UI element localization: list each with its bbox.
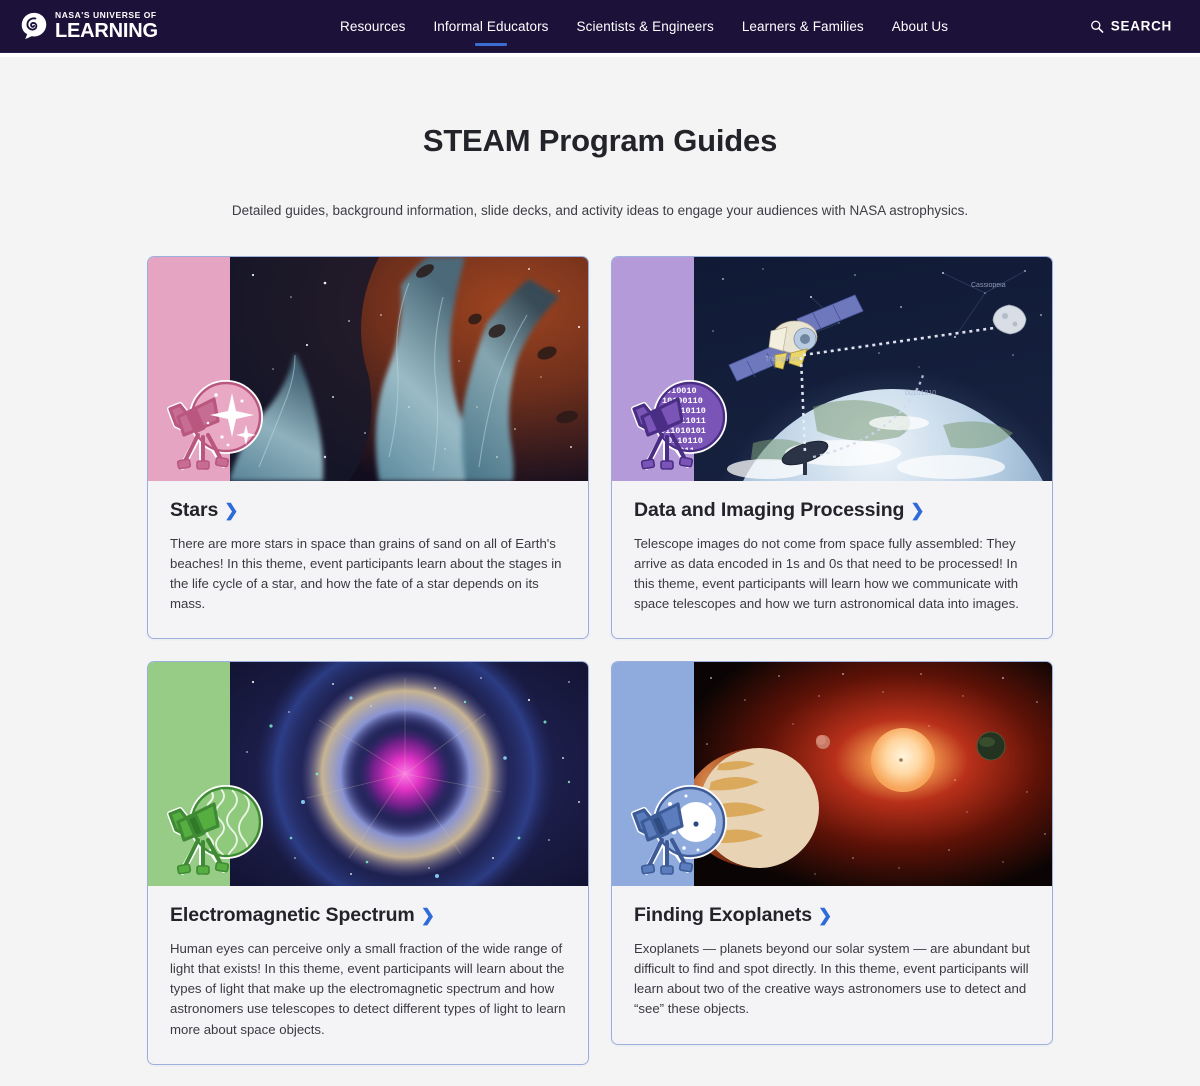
chevron-right-icon: ❯	[910, 501, 924, 521]
card-data-and-imaging-processing[interactable]: Cassiopeia Triangulum 00101010 JPL	[611, 256, 1053, 639]
site-header: NASA'S UNIVERSE OF LEARNING Resources In…	[0, 0, 1200, 53]
card-spectrum-image	[230, 662, 588, 886]
spiral-galaxy-logo-icon	[20, 12, 48, 40]
card-data-title-link[interactable]: Data and Imaging Processing ❯	[634, 499, 1030, 522]
program-guide-card-grid: Stars ❯ There are more stars in space th…	[147, 256, 1053, 1065]
card-data-title: Data and Imaging Processing	[634, 499, 904, 522]
card-exoplanets-title-link[interactable]: Finding Exoplanets ❯	[634, 904, 1030, 927]
card-stars-title: Stars	[170, 499, 218, 522]
svg-text:00101010: 00101010	[905, 390, 936, 397]
svg-text:Triangulum: Triangulum	[765, 356, 800, 363]
card-data-media[interactable]: Cassiopeia Triangulum 00101010 JPL	[612, 257, 1052, 481]
card-electromagnetic-spectrum[interactable]: Electromagnetic Spectrum ❯ Human eyes ca…	[147, 661, 589, 1064]
card-stars-title-link[interactable]: Stars ❯	[170, 499, 566, 522]
card-stars-media[interactable]	[148, 257, 588, 481]
card-stars[interactable]: Stars ❯ There are more stars in space th…	[147, 256, 589, 639]
nav-item-learners-families[interactable]: Learners & Families	[728, 19, 878, 34]
nav-item-scientists-engineers[interactable]: Scientists & Engineers	[563, 19, 728, 34]
site-logo-link[interactable]: NASA'S UNIVERSE OF LEARNING	[20, 11, 158, 41]
page-subtitle: Detailed guides, background information,…	[0, 203, 1200, 218]
nav-item-about-us[interactable]: About Us	[878, 19, 962, 34]
brand-name: LEARNING	[55, 21, 158, 41]
card-data-description: Telescope images do not come from space …	[634, 534, 1030, 614]
card-stars-image	[230, 257, 588, 481]
search-label: SEARCH	[1111, 19, 1172, 34]
card-exoplanets-color-band	[612, 662, 694, 886]
primary-nav: Resources Informal Educators Scientists …	[326, 0, 962, 53]
nav-item-resources[interactable]: Resources	[326, 19, 419, 34]
search-button[interactable]: SEARCH	[1090, 17, 1172, 36]
nav-item-informal-educators[interactable]: Informal Educators	[419, 19, 562, 34]
chevron-right-icon: ❯	[818, 906, 832, 926]
card-stars-color-band	[148, 257, 230, 481]
card-exoplanets-image	[694, 662, 1052, 886]
card-exoplanets-media[interactable]	[612, 662, 1052, 886]
svg-text:Cassiopeia: Cassiopeia	[971, 282, 1006, 289]
card-finding-exoplanets[interactable]: Finding Exoplanets ❯ Exoplanets — planet…	[611, 661, 1053, 1044]
card-spectrum-title: Electromagnetic Spectrum	[170, 904, 415, 927]
card-data-image: Cassiopeia Triangulum 00101010 JPL	[694, 257, 1052, 481]
search-icon	[1090, 19, 1104, 33]
card-spectrum-media[interactable]	[148, 662, 588, 886]
card-data-color-band	[612, 257, 694, 481]
chevron-right-icon: ❯	[421, 906, 435, 926]
chevron-right-icon: ❯	[224, 501, 238, 521]
brand-tagline: NASA'S UNIVERSE OF	[55, 11, 158, 20]
card-exoplanets-title: Finding Exoplanets	[634, 904, 812, 927]
card-spectrum-title-link[interactable]: Electromagnetic Spectrum ❯	[170, 904, 566, 927]
card-spectrum-description: Human eyes can perceive only a small fra…	[170, 939, 566, 1039]
page-content: STEAM Program Guides Detailed guides, ba…	[0, 57, 1200, 1065]
card-exoplanets-description: Exoplanets — planets beyond our solar sy…	[634, 939, 1030, 1019]
card-spectrum-color-band	[148, 662, 230, 886]
page-title: STEAM Program Guides	[0, 123, 1200, 159]
card-stars-description: There are more stars in space than grain…	[170, 534, 566, 614]
svg-text:JPL: JPL	[897, 426, 909, 433]
